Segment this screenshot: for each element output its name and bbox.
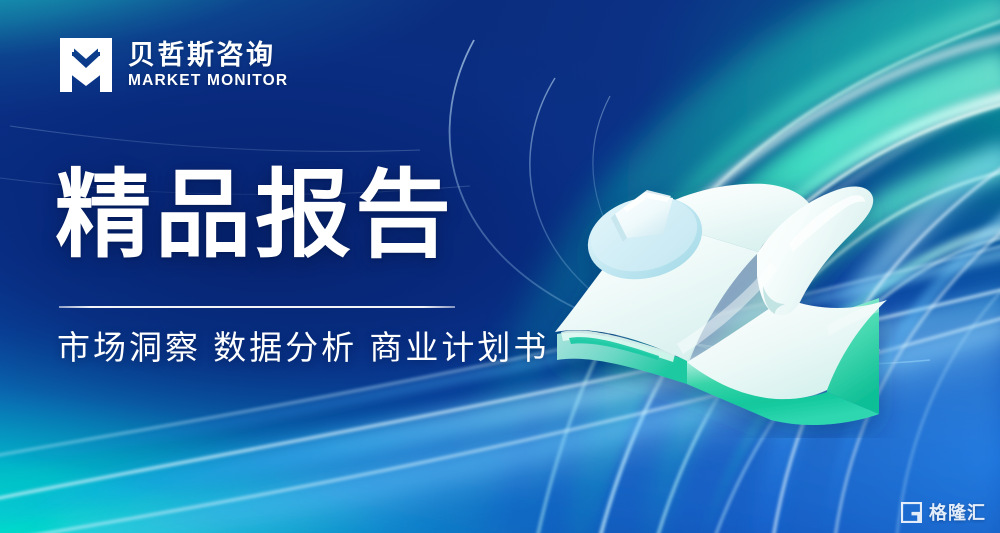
headline-block: 精品报告 <box>55 168 455 264</box>
brand-name-en: MARKET MONITOR <box>128 72 288 89</box>
watermark: 格隆汇 <box>901 502 986 523</box>
headline-divider <box>59 306 455 308</box>
open-book-svg <box>527 148 947 438</box>
watermark-text: 格隆汇 <box>929 504 986 522</box>
brand-logo: 贝哲斯咨询 MARKET MONITOR <box>58 36 288 94</box>
market-monitor-m-logo-icon <box>58 36 114 94</box>
page-subtitle: 市场洞察 数据分析 商业计划书 <box>57 327 549 368</box>
page-title: 精品报告 <box>55 168 455 264</box>
brand-logo-text: 贝哲斯咨询 MARKET MONITOR <box>128 41 288 88</box>
open-book-illustration <box>527 148 947 438</box>
brand-name-cn: 贝哲斯咨询 <box>128 41 288 69</box>
gelonghui-g-logo-icon <box>901 502 922 523</box>
report-cover-banner: 贝哲斯咨询 MARKET MONITOR <box>0 0 1000 533</box>
